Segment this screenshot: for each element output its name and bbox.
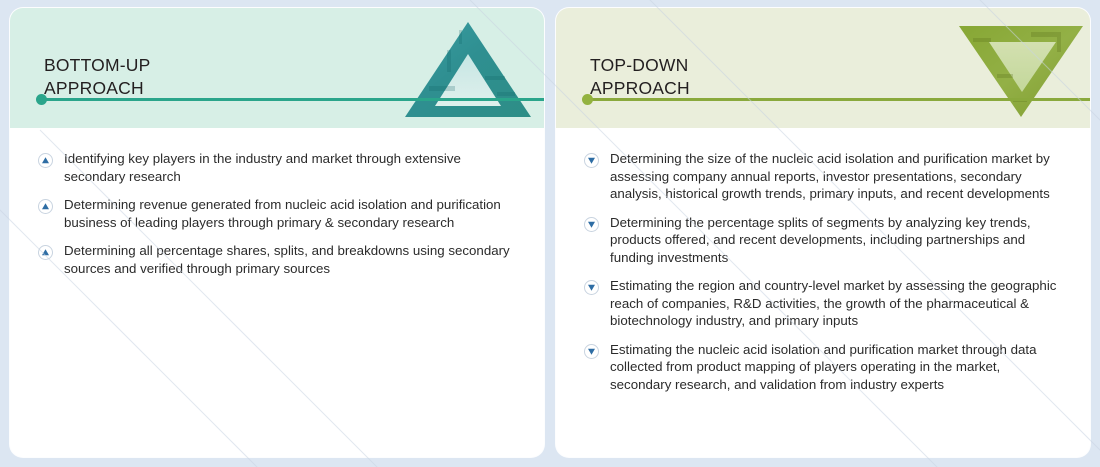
panel-bottom-up-bullet-list: Identifying key players in the industry …	[10, 128, 544, 287]
approach-comparison-layout: BOTTOM-UP APPROACH Identifying key playe…	[0, 0, 1100, 467]
triangle-down-circle-icon	[584, 217, 599, 232]
list-item-text: Identifying key players in the industry …	[64, 150, 516, 185]
rule-bar	[41, 98, 544, 101]
rule-bar	[587, 98, 1090, 101]
triangle-up-circle-icon	[38, 153, 53, 168]
panel-top-down-header: TOP-DOWN APPROACH	[556, 8, 1090, 128]
list-item: Identifying key players in the industry …	[38, 150, 518, 185]
panel-top-down-rule	[582, 94, 1090, 104]
triangle-down-circle-icon	[584, 344, 599, 359]
triangle-up-circle-icon	[38, 199, 53, 214]
panel-bottom-up-rule	[36, 94, 544, 104]
list-item-text: Determining revenue generated from nucle…	[64, 196, 516, 231]
list-item-text: Determining the size of the nucleic acid…	[610, 150, 1064, 203]
list-item: Determining all percentage shares, split…	[38, 242, 518, 277]
list-item: Determining the size of the nucleic acid…	[584, 150, 1064, 203]
panel-bottom-up-header: BOTTOM-UP APPROACH	[10, 8, 544, 128]
panel-top-down-bullet-list: Determining the size of the nucleic acid…	[556, 128, 1090, 403]
list-item: Estimating the region and country-level …	[584, 277, 1064, 330]
triangle-down-circle-icon	[584, 153, 599, 168]
list-item: Estimating the nucleic acid isolation an…	[584, 341, 1064, 394]
list-item-text: Estimating the region and country-level …	[610, 277, 1064, 330]
panel-top-down: TOP-DOWN APPROACH Determining the size o…	[556, 8, 1090, 457]
list-item: Determining revenue generated from nucle…	[38, 196, 518, 231]
rule-dot	[36, 94, 47, 105]
list-item-text: Estimating the nucleic acid isolation an…	[610, 341, 1064, 394]
list-item-text: Determining all percentage shares, split…	[64, 242, 516, 277]
panel-bottom-up: BOTTOM-UP APPROACH Identifying key playe…	[10, 8, 544, 457]
triangle-up-circle-icon	[38, 245, 53, 260]
triangle-down-circle-icon	[584, 280, 599, 295]
rule-dot	[582, 94, 593, 105]
list-item-text: Determining the percentage splits of seg…	[610, 214, 1064, 267]
list-item: Determining the percentage splits of seg…	[584, 214, 1064, 267]
